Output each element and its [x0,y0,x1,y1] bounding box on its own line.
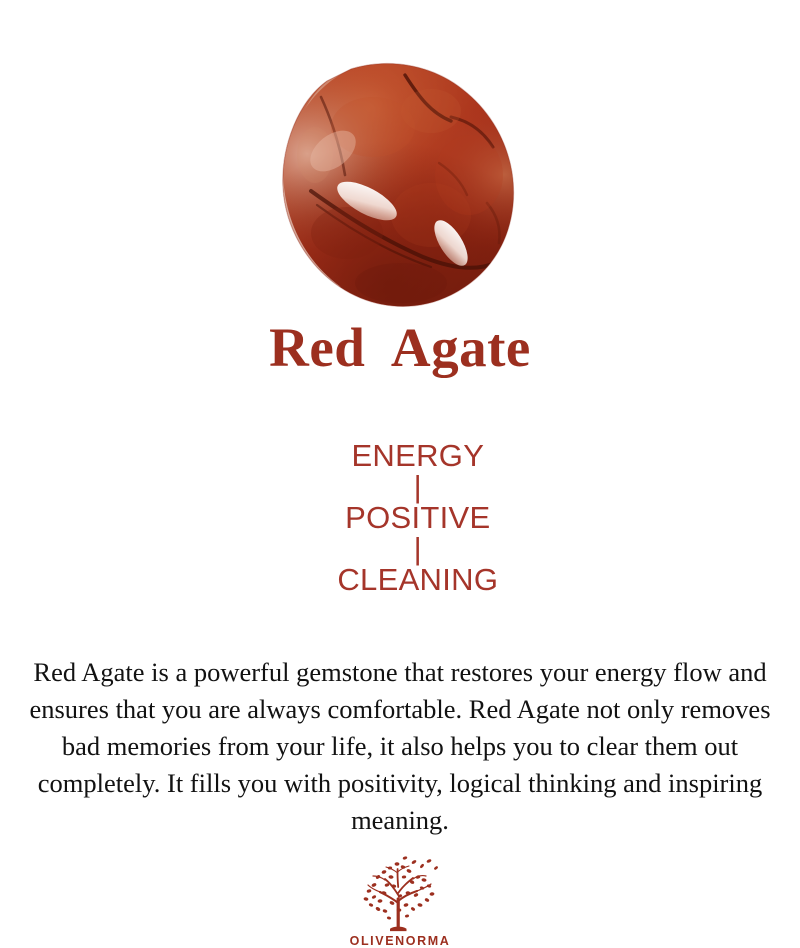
product-description: Red Agate is a powerful gemstone that re… [29,654,771,839]
brand-wordmark: OLIVENORMA [350,934,451,948]
red-agate-stone-image [255,55,545,315]
brand-logo: OLIVENORMA [350,855,451,948]
gemstone-image-area [0,0,800,320]
page-title: Red Agate [269,320,531,375]
keyword-separator-1: | [405,469,431,504]
keyword-separator-2: | [405,531,431,566]
keyword-energy: ENERGY [351,438,484,473]
stone-body [255,55,545,315]
keyword-positive: POSITIVE [345,500,490,535]
keyword-list: ENERGY | POSITIVE | CLEANING [302,409,499,626]
tree-icon [354,855,446,933]
product-info-card: Red Agate ENERGY | POSITIVE | CLEANING R… [0,0,800,800]
keyword-cleaning: CLEANING [337,562,498,597]
